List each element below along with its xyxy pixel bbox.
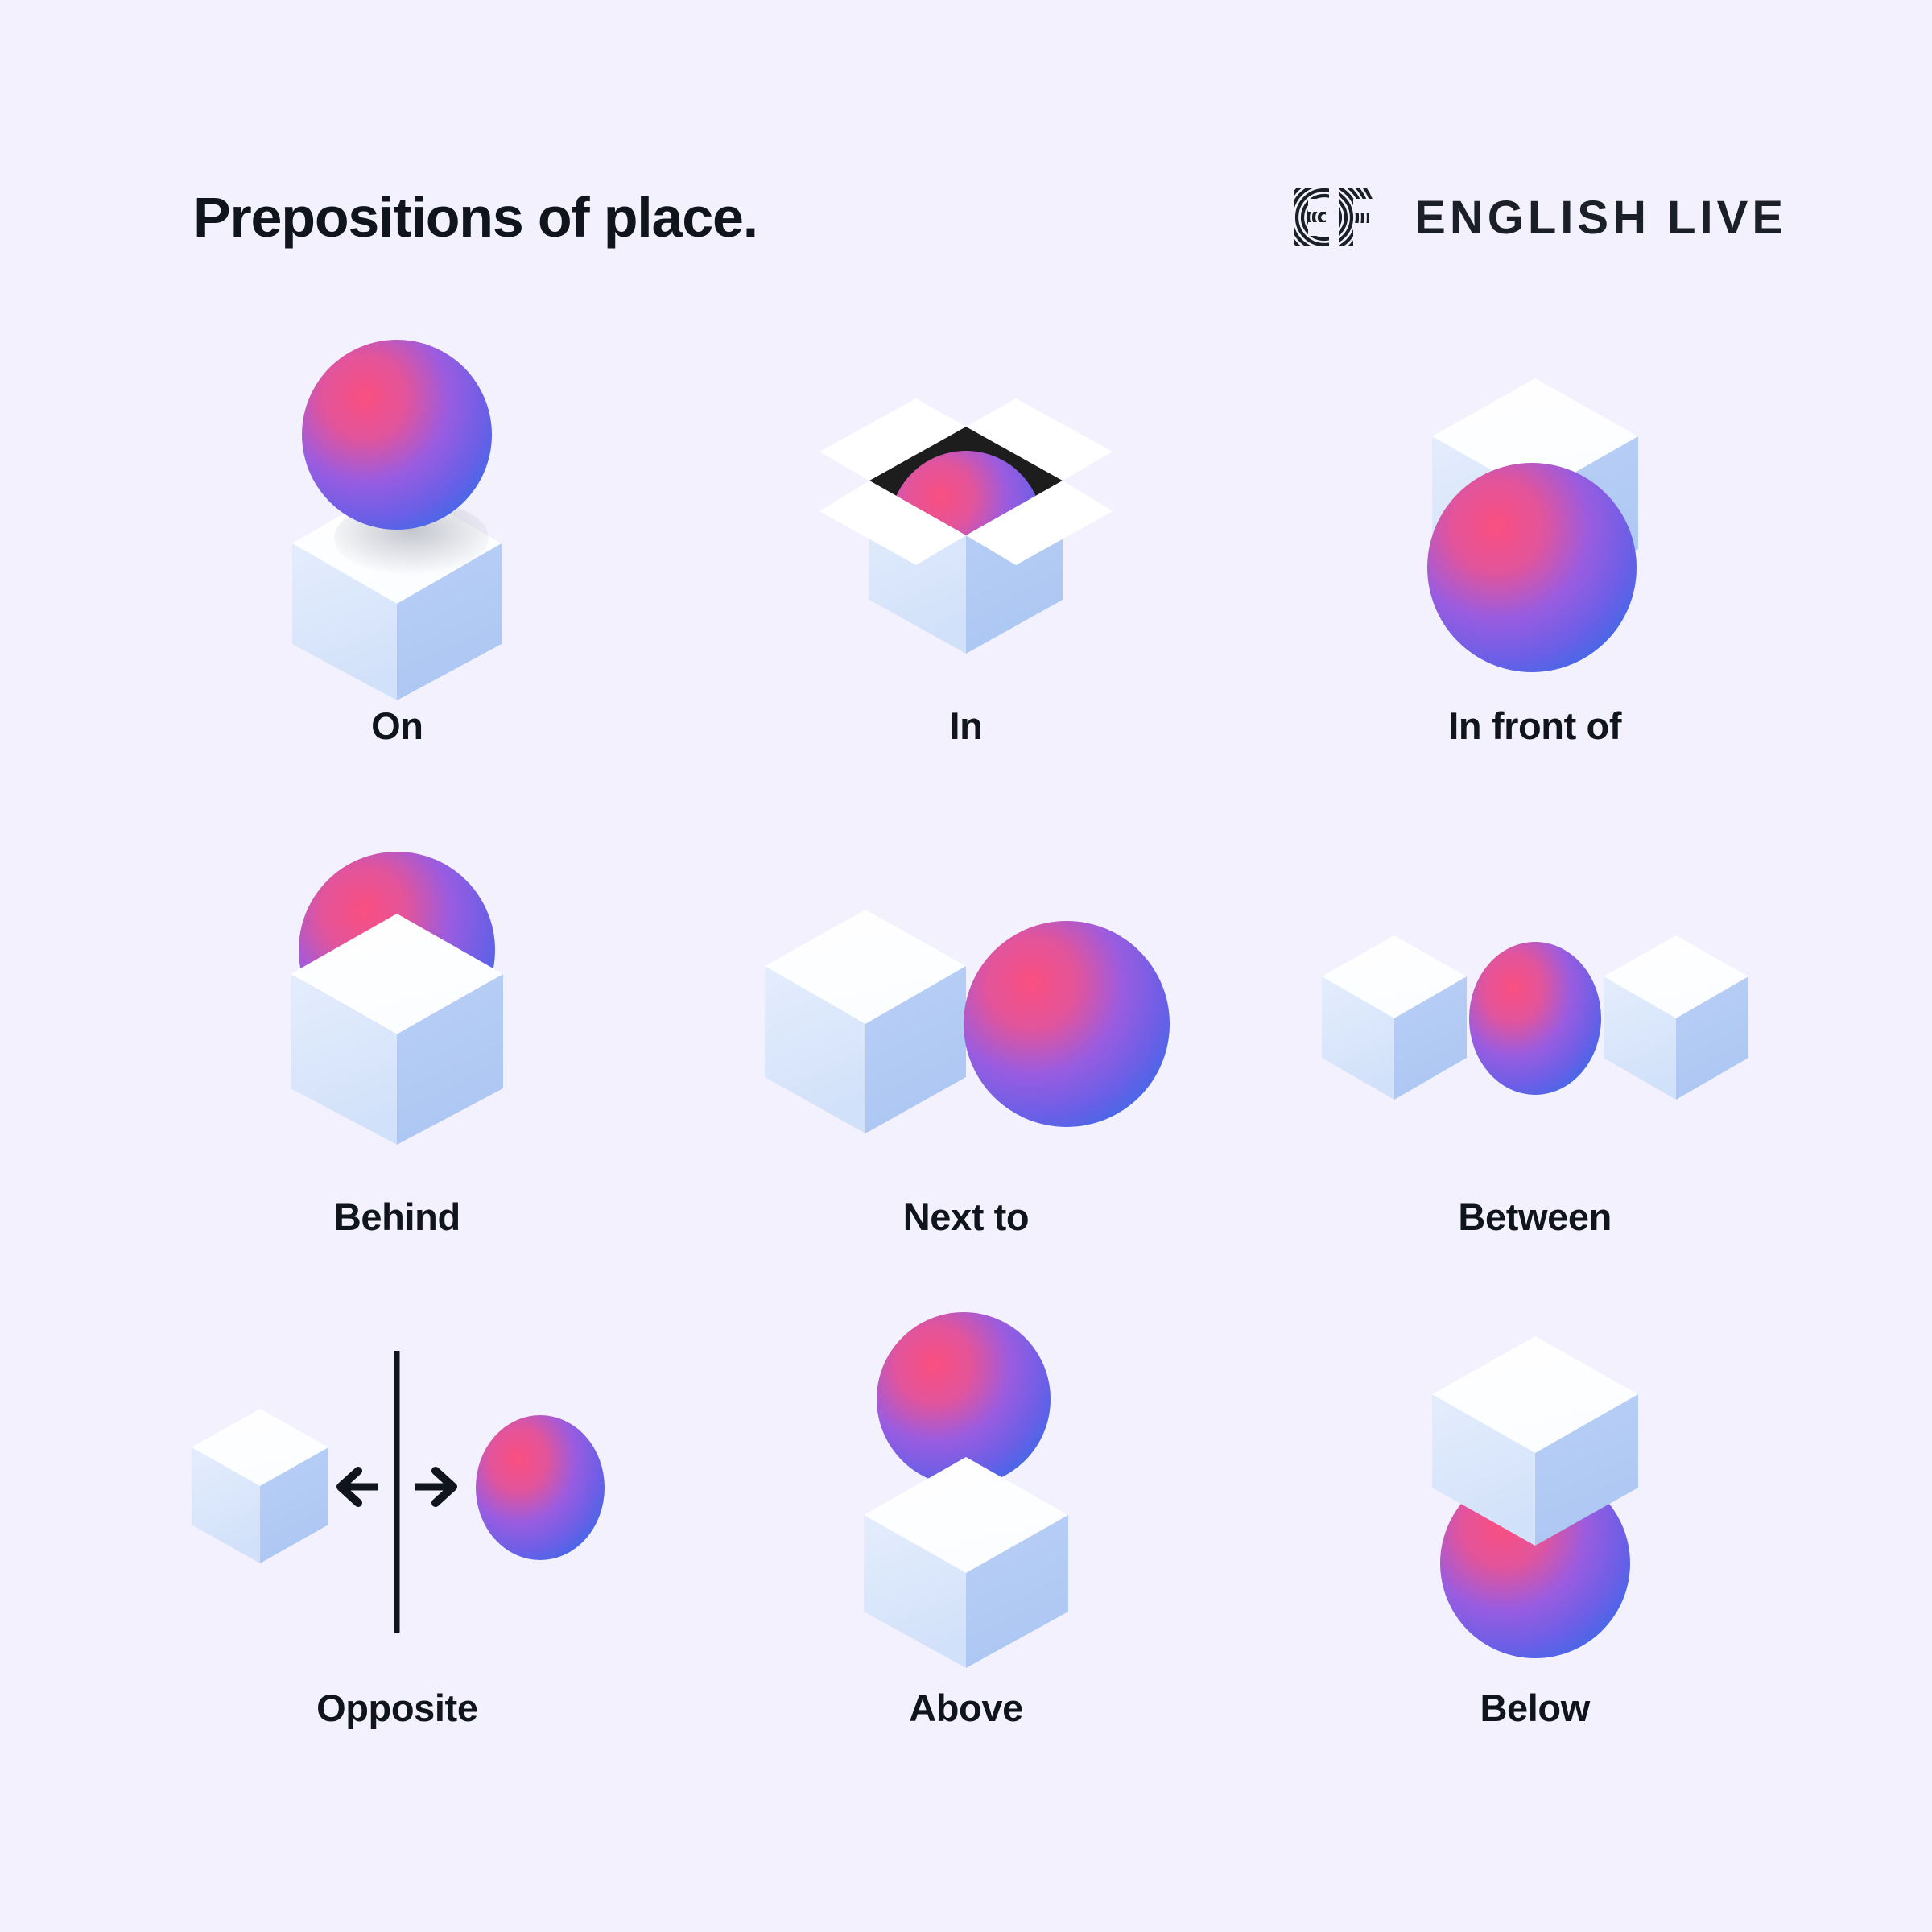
ef-logo-icon xyxy=(1292,184,1387,251)
page-title: Prepositions of place. xyxy=(193,189,758,246)
grid-cell-in: In xyxy=(682,322,1251,813)
sphere-between-two-cubes-icon xyxy=(1294,813,1777,1191)
cube-opposite-sphere-icon xyxy=(155,1304,638,1682)
brand-name: ENGLISH LIVE xyxy=(1414,191,1787,245)
page-header: Prepositions of place. xyxy=(193,173,1787,262)
sphere-on-cube-icon xyxy=(155,322,638,700)
prepositions-grid: On In xyxy=(113,322,1819,1795)
caption-next-to: Next to xyxy=(903,1198,1030,1236)
grid-cell-behind: Behind xyxy=(113,813,682,1304)
caption-opposite: Opposite xyxy=(316,1689,477,1727)
caption-behind: Behind xyxy=(334,1198,460,1236)
left-arrow-icon xyxy=(341,1471,378,1503)
caption-in: In xyxy=(950,707,983,745)
sphere-below-cube-icon xyxy=(1294,1304,1777,1682)
sphere-in-open-box-icon xyxy=(724,322,1207,700)
sphere-in-front-of-cube-icon xyxy=(1294,322,1777,700)
caption-between: Between xyxy=(1458,1198,1611,1236)
grid-cell-above: Above xyxy=(682,1304,1251,1795)
grid-cell-opposite: Opposite xyxy=(113,1304,682,1795)
caption-above: Above xyxy=(909,1689,1023,1727)
brand-lockup: ENGLISH LIVE xyxy=(1292,184,1787,251)
sphere-above-cube-icon xyxy=(724,1304,1207,1682)
cube-next-to-sphere-icon xyxy=(724,813,1207,1191)
caption-in-front-of: In front of xyxy=(1448,707,1621,745)
grid-cell-next-to: Next to xyxy=(682,813,1251,1304)
grid-cell-between: Between xyxy=(1250,813,1819,1304)
right-arrow-icon xyxy=(415,1471,453,1503)
grid-cell-below: Below xyxy=(1250,1304,1819,1795)
grid-cell-in-front-of: In front of xyxy=(1250,322,1819,813)
grid-cell-on: On xyxy=(113,322,682,813)
caption-below: Below xyxy=(1480,1689,1589,1727)
sphere-behind-cube-icon xyxy=(155,813,638,1191)
caption-on: On xyxy=(371,707,423,745)
